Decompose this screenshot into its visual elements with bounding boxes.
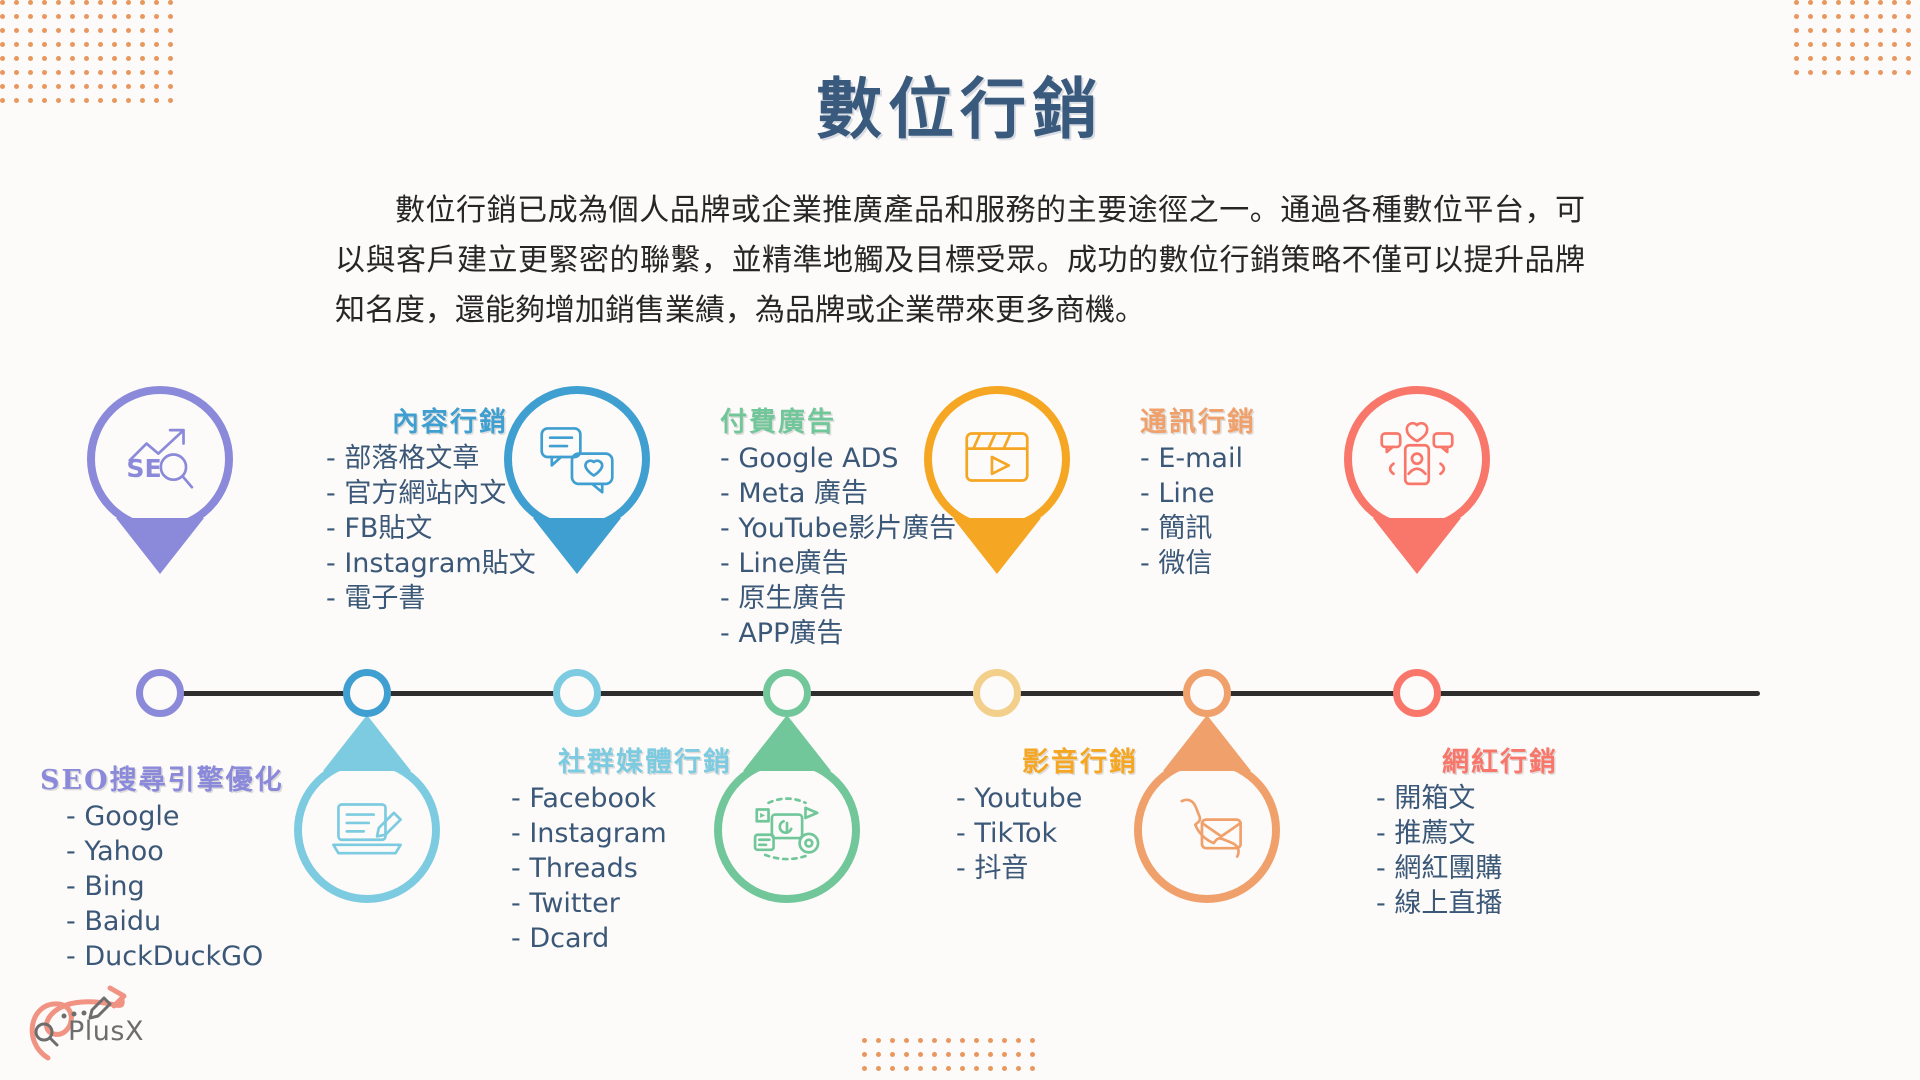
timeline-node-3 — [553, 669, 601, 717]
pin-influencer[interactable] — [1344, 386, 1490, 532]
pin-content[interactable] — [504, 386, 650, 532]
pin-video[interactable] — [924, 386, 1070, 532]
timeline-node-2 — [343, 669, 391, 717]
pin-seo[interactable]: SE — [87, 386, 233, 532]
pin-tail-influencer — [1373, 518, 1461, 574]
infographic-canvas: 數位行銷 數位行銷已成為個人品牌或企業推廣產品和服務的主要途徑之一。通過各種數位… — [0, 0, 1920, 1080]
page-title: 數位行銷 — [0, 56, 1920, 152]
content-chat-bubbles-icon — [535, 415, 619, 504]
pin-bulb-influencer — [1344, 386, 1490, 532]
list-item: 網紅團購 — [1376, 851, 1650, 886]
list-item: 推薦文 — [1376, 816, 1650, 851]
section-heading-influencer: 網紅行銷 — [1350, 740, 1650, 779]
list-item: 線上直播 — [1376, 886, 1650, 921]
decorative-dots-bottom-center — [862, 1038, 1044, 1080]
influencer-mobile-heart-icon — [1375, 415, 1459, 504]
pin-tail-video — [953, 518, 1041, 574]
pin-tail-social — [323, 715, 411, 771]
paid-ads-megaphone-icon — [745, 786, 829, 875]
pin-bulb-seo: SE — [87, 386, 233, 532]
pin-tail-messaging — [1163, 715, 1251, 771]
timeline-node-5 — [973, 669, 1021, 717]
section-list-influencer: 開箱文推薦文網紅團購線上直播 — [1350, 781, 1650, 921]
pin-bulb-messaging — [1134, 757, 1280, 903]
list-item: Dcard — [511, 921, 805, 956]
intro-paragraph: 數位行銷已成為個人品牌或企業推廣產品和服務的主要途徑之一。通過各種數位平台，可以… — [335, 186, 1585, 336]
pin-messaging[interactable] — [1134, 757, 1280, 903]
list-item: 電子書 — [326, 581, 600, 616]
list-item: 開箱文 — [1376, 781, 1650, 816]
pin-tail-content — [533, 518, 621, 574]
pin-bulb-paid-ads — [714, 757, 860, 903]
seo-magnifier-icon: SE — [118, 415, 202, 504]
timeline-node-6 — [1183, 669, 1231, 717]
timeline-node-1 — [136, 669, 184, 717]
pin-bulb-social — [294, 757, 440, 903]
pin-social[interactable] — [294, 757, 440, 903]
list-item: 原生廣告 — [720, 581, 1040, 616]
pin-tail-paid-ads — [743, 715, 831, 771]
pin-bulb-content — [504, 386, 650, 532]
pin-paid-ads[interactable] — [714, 757, 860, 903]
list-item: Baidu — [66, 904, 340, 939]
video-player-icon — [955, 415, 1039, 504]
svg-text:SE: SE — [126, 454, 161, 483]
pin-bulb-video — [924, 386, 1070, 532]
pin-tail-seo — [116, 518, 204, 574]
timeline-node-4 — [763, 669, 811, 717]
list-item: APP廣告 — [720, 616, 1040, 651]
timeline-axis — [170, 691, 1760, 696]
messaging-phone-envelope-icon — [1165, 786, 1249, 875]
timeline-node-7 — [1393, 669, 1441, 717]
section-influencer: 網紅行銷開箱文推薦文網紅團購線上直播 — [1350, 740, 1650, 921]
social-laptop-icon — [325, 786, 409, 875]
pluskx-logo: PlusX — [18, 980, 168, 1070]
logo-wordmark: PlusX — [68, 1016, 144, 1047]
list-item: DuckDuckGO — [66, 939, 340, 974]
